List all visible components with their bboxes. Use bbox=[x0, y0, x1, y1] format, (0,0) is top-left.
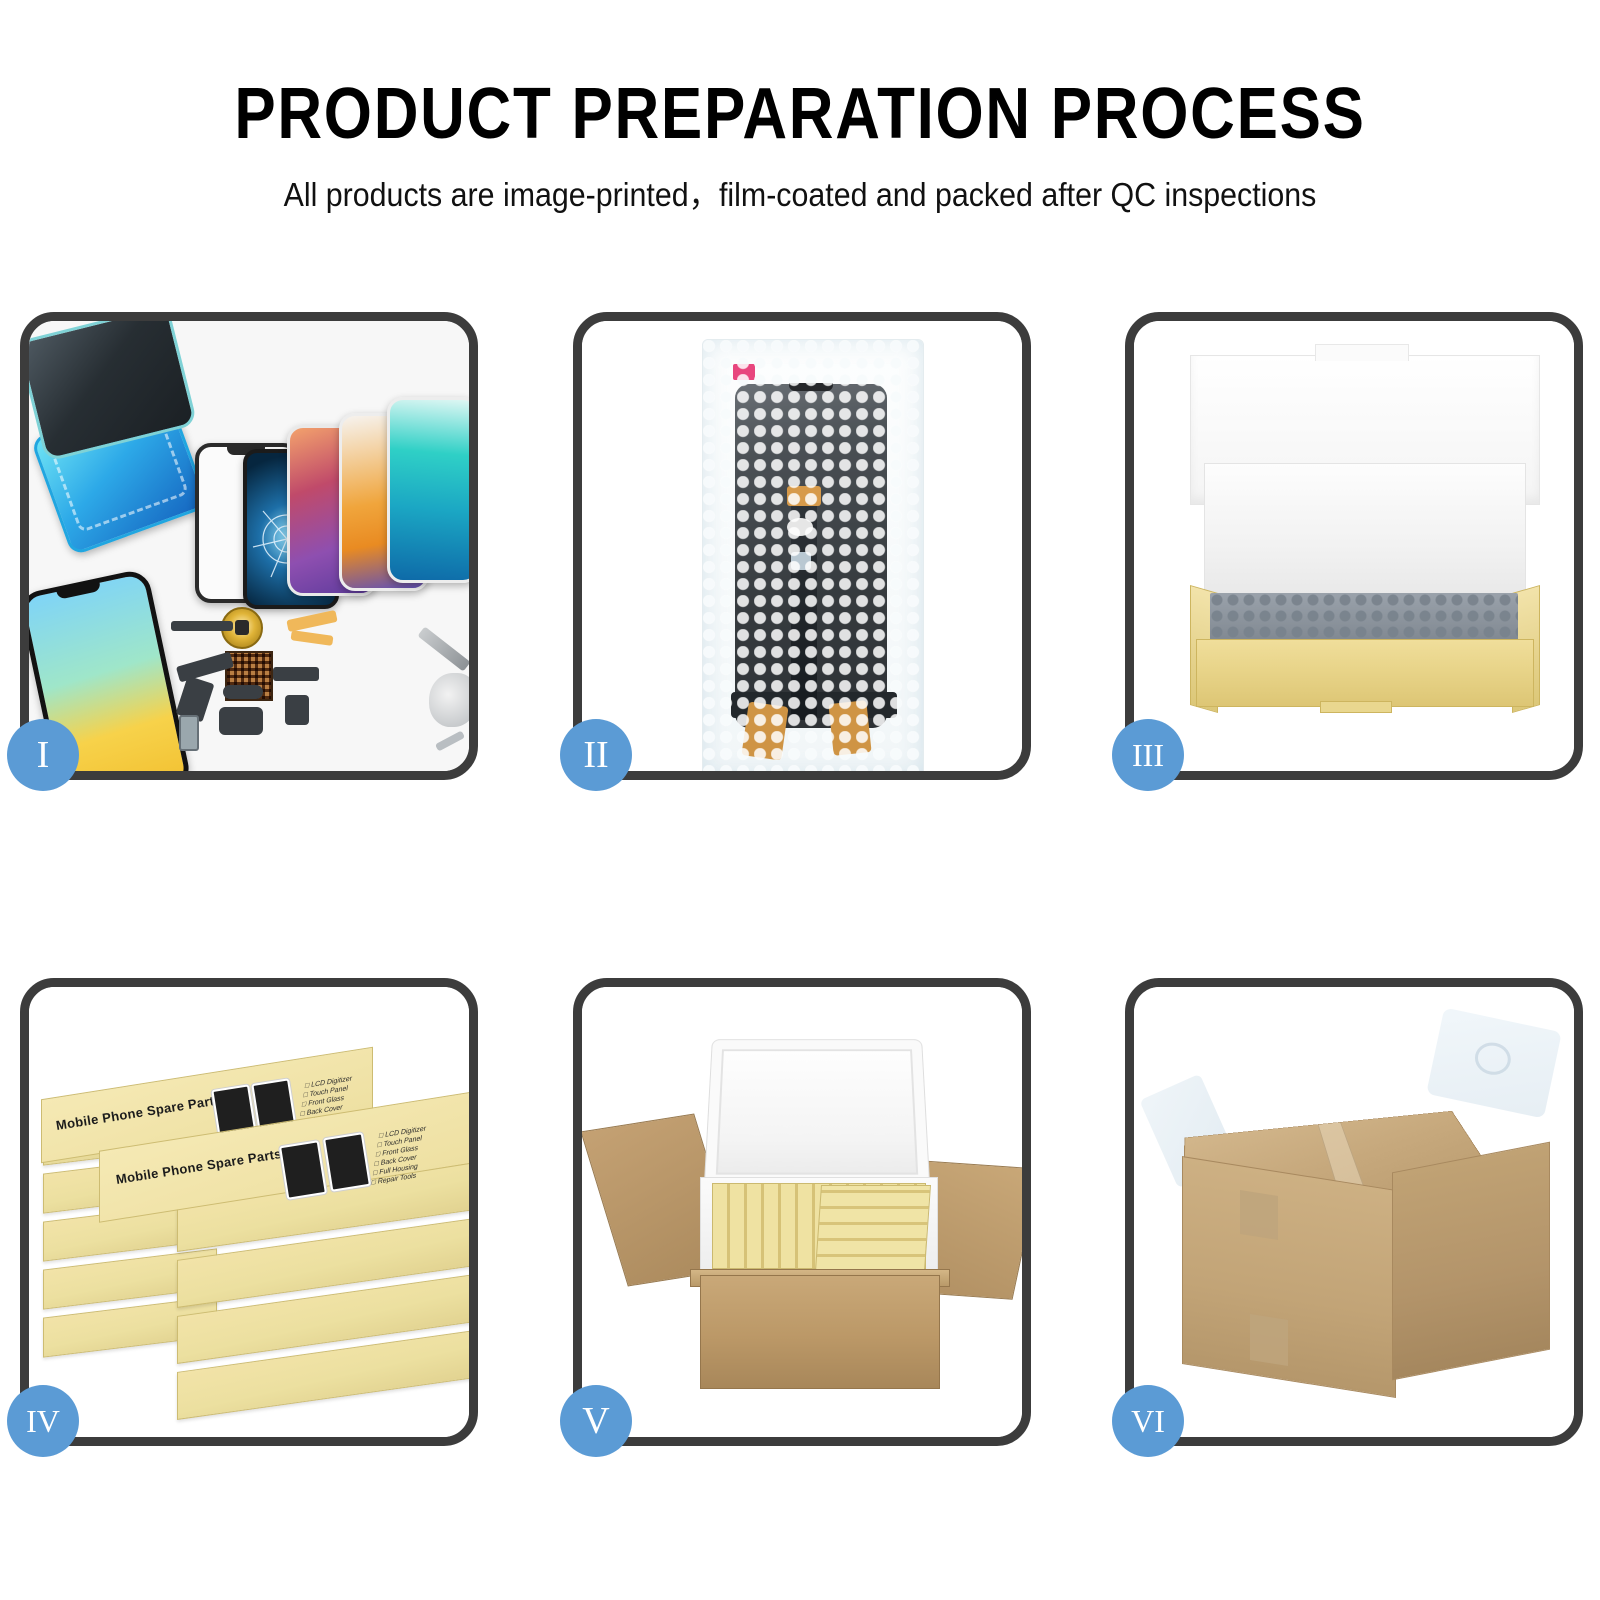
carton-seam-top-graphic bbox=[1240, 1190, 1278, 1240]
step-2-image bbox=[582, 321, 1022, 771]
step-badge-1: I bbox=[7, 719, 79, 791]
step-badge-6: VI bbox=[1112, 1385, 1184, 1457]
cleaning-brush-graphic bbox=[429, 673, 469, 727]
step-panel-2: II bbox=[573, 312, 1031, 780]
flex-foot-right-graphic bbox=[828, 700, 871, 756]
pink-qc-label-graphic bbox=[733, 364, 755, 380]
step-badge-3: III bbox=[1112, 719, 1184, 791]
flex-cable-2-graphic bbox=[291, 630, 334, 646]
connector-gold-graphic bbox=[787, 486, 821, 506]
bubble-wrap-bag-graphic bbox=[702, 339, 924, 771]
inner-box-scene bbox=[1134, 321, 1574, 771]
retail-box-product-photo bbox=[323, 1132, 371, 1192]
page-title: PRODUCT PREPARATION PROCESS bbox=[112, 0, 1488, 150]
step-panel-1: I bbox=[20, 312, 478, 780]
stacked-retail-boxes-scene: Mobile Phone Spare Parts LCD Digitizer T… bbox=[29, 987, 469, 1437]
page-header: PRODUCT PREPARATION PROCESS All products… bbox=[0, 0, 1600, 211]
step-1-image bbox=[29, 321, 469, 771]
flex-cable-1-graphic bbox=[286, 610, 337, 632]
step-4-image: Mobile Phone Spare Parts LCD Digitizer T… bbox=[29, 987, 469, 1437]
retail-box-product-photo bbox=[279, 1140, 327, 1200]
sim-tray-graphic bbox=[179, 715, 199, 751]
carton-front-face-graphic bbox=[1182, 1156, 1396, 1398]
carton-side-face-graphic bbox=[1392, 1142, 1550, 1381]
carton-seam-bottom-graphic bbox=[1250, 1314, 1288, 1366]
step-panel-5: V bbox=[573, 978, 1031, 1446]
poly-bag-right-graphic bbox=[1426, 1007, 1562, 1118]
step-badge-5: V bbox=[560, 1385, 632, 1457]
gold-boxes-row-2-graphic bbox=[815, 1185, 931, 1271]
taptic-engine-graphic bbox=[285, 695, 309, 725]
bubble-wrapped-screen-scene bbox=[582, 321, 1022, 771]
box-front-panel-graphic bbox=[1196, 639, 1534, 707]
step-5-image bbox=[582, 987, 1022, 1437]
step-panel-4: Mobile Phone Spare Parts LCD Digitizer T… bbox=[20, 978, 478, 1446]
tweezers-graphic bbox=[417, 626, 469, 671]
speaker-mesh-graphic bbox=[171, 621, 233, 631]
step-6-image bbox=[1134, 987, 1574, 1437]
step-panel-6: VI bbox=[1125, 978, 1583, 1446]
box-lid-front-graphic bbox=[1204, 463, 1526, 599]
process-steps-grid: I II bbox=[12, 290, 1592, 1490]
vibration-motor-graphic bbox=[223, 685, 263, 699]
connector-chip-graphic bbox=[791, 552, 811, 570]
step-3-image bbox=[1134, 321, 1574, 771]
step-panel-3: III bbox=[1125, 312, 1583, 780]
carton-loading-scene bbox=[582, 987, 1022, 1437]
screws-graphic bbox=[435, 730, 465, 751]
spare-parts-scene bbox=[29, 321, 469, 771]
sealed-carton-scene bbox=[1134, 987, 1574, 1437]
carton-front-graphic bbox=[700, 1275, 940, 1389]
box-closure-tab-graphic bbox=[1320, 701, 1392, 713]
earpiece-graphic bbox=[219, 707, 263, 735]
step-badge-4: IV bbox=[7, 1385, 79, 1457]
phone-display-3-graphic bbox=[387, 397, 469, 583]
flex-foot-left-graphic bbox=[741, 701, 788, 760]
connector-white-graphic bbox=[787, 518, 813, 536]
step-badge-2: II bbox=[560, 719, 632, 791]
camera-module-graphic bbox=[273, 667, 319, 681]
foam-lid-graphic bbox=[704, 1039, 930, 1186]
page-subtitle: All products are image-printed，film-coat… bbox=[64, 150, 1536, 211]
